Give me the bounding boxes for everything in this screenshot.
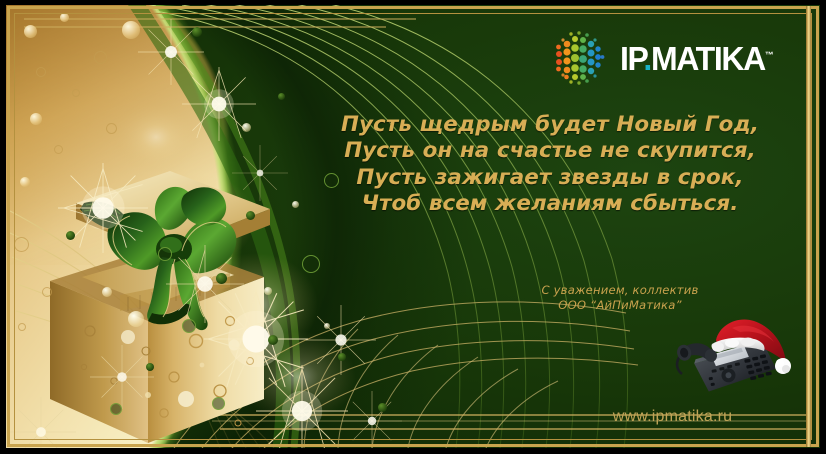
signature-line-2: ООО “АйПиМатика” <box>455 298 785 313</box>
poem-line-4: Чтоб всем желаниям сбыться. <box>300 191 800 217</box>
greeting-poem: Пусть щедрым будет Новый Год, Пусть он н… <box>300 112 800 218</box>
signature-line-1: С уважением, коллектив <box>455 283 785 298</box>
greeting-card: IP.MATIKA™ Пусть щедрым будет Новый Год,… <box>0 0 826 454</box>
poem-line-3: Пусть зажигает звезды в срок, <box>300 165 800 191</box>
signature-block: С уважением, коллектив ООО “АйПиМатика” <box>455 283 785 313</box>
poem-line-1: Пусть щедрым будет Новый Год, <box>300 112 800 138</box>
brand-part-1: IP <box>620 40 643 77</box>
brand-wordmark: IP.MATIKA™ <box>620 42 774 75</box>
brand-part-2: MATIKA <box>651 40 765 77</box>
trademark-symbol: ™ <box>765 50 774 60</box>
gift-box-illustration <box>24 155 292 448</box>
ipmatika-dot-sphere-logo-icon <box>551 30 607 86</box>
brand-dot: . <box>643 40 651 77</box>
voip-phone-santa-hat-image <box>672 318 794 404</box>
brand-logo[interactable]: IP.MATIKA™ <box>551 30 789 86</box>
website-url[interactable]: www.ipmatika.ru <box>560 408 785 426</box>
poem-line-2: Пусть он на счастье не скупится, <box>300 138 800 164</box>
